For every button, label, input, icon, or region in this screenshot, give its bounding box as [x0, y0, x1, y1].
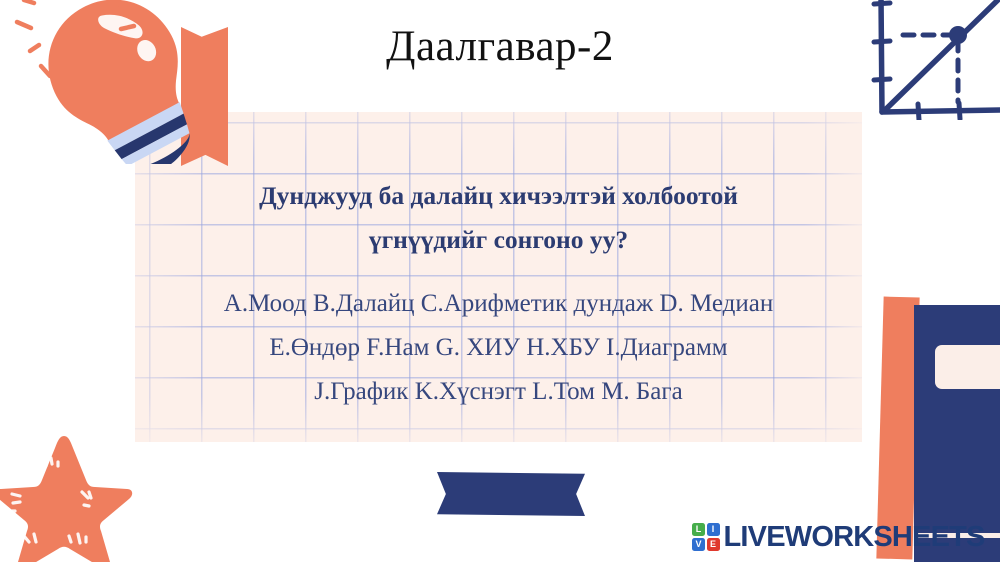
- question-line-2: үгнүүдийг сонгоно уу?: [135, 218, 862, 262]
- question-line-1: Дунджууд ба далайц хичээлтэй холбоотой: [135, 174, 862, 218]
- card-content: Дунджууд ба далайц хичээлтэй холбоотой ү…: [135, 112, 862, 442]
- logo-letter-tiles: L I V E: [692, 523, 720, 551]
- logo-tile-e: E: [707, 538, 720, 551]
- slide-canvas: Даалгавар-2 Дунджууд ба далайц хичээлтэй…: [0, 0, 1000, 562]
- option-line-3[interactable]: J.График K.Хүснэгт L.Том M. Бага: [135, 370, 862, 414]
- option-line-2[interactable]: E.Өндөр F.Нам G. ХИУ H.ХБУ I.Диаграмм: [135, 326, 862, 370]
- logo-wordmark: LIVEWORKSHEETS: [724, 521, 985, 554]
- liveworksheets-logo[interactable]: L I V E LIVEWORKSHEETS: [692, 520, 985, 554]
- logo-tile-l: L: [692, 523, 705, 536]
- notebook-label: [935, 345, 1000, 389]
- option-line-1[interactable]: A.Моод B.Далайц C.Арифметик дундаж D. Ме…: [135, 282, 862, 326]
- navy-banner: [437, 472, 585, 516]
- page-title: Даалгавар-2: [0, 22, 1000, 71]
- logo-tile-v: V: [692, 538, 705, 551]
- logo-tile-i: I: [707, 523, 720, 536]
- star-icon: [0, 432, 134, 562]
- options-block: A.Моод B.Далайц C.Арифметик дундаж D. Ме…: [135, 282, 862, 414]
